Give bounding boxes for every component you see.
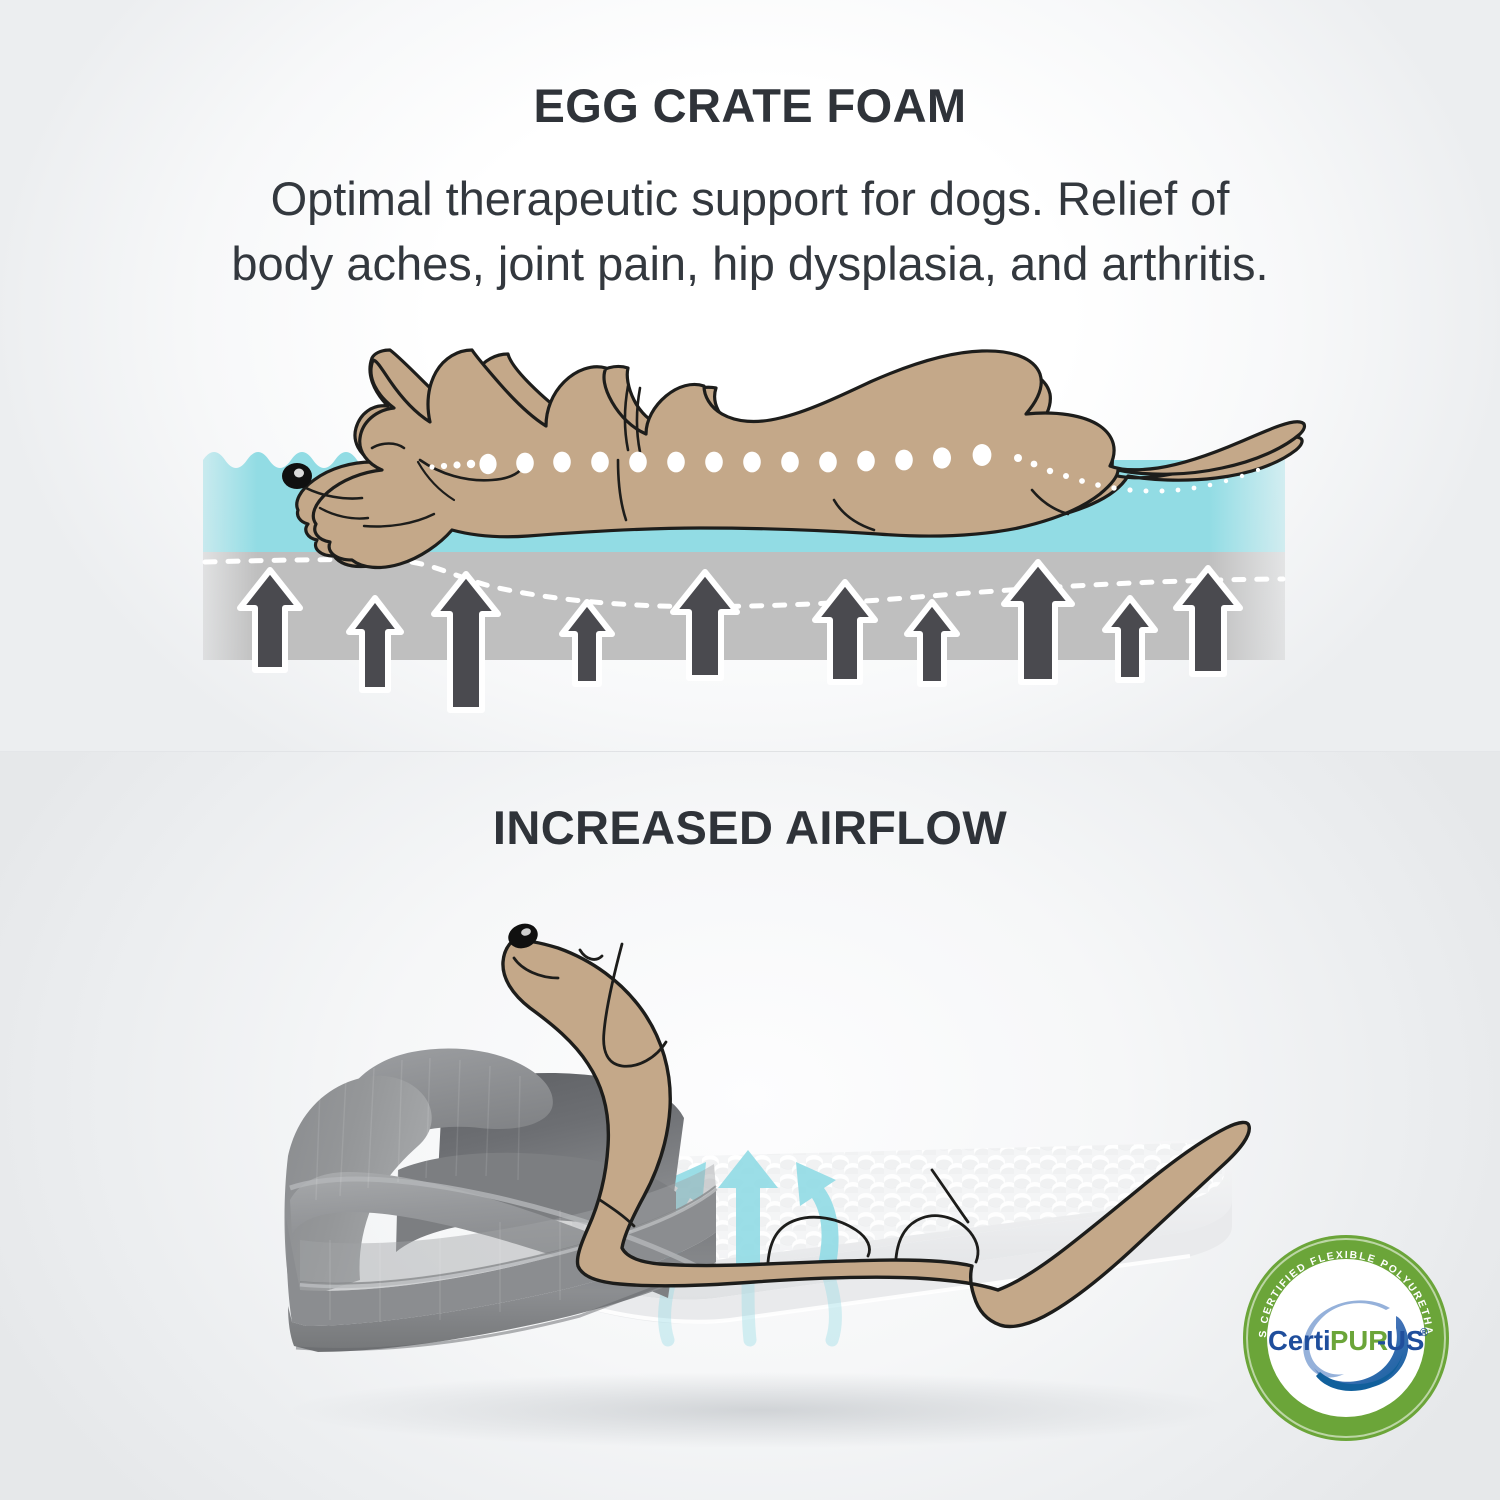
- bed-shadow: [290, 1372, 1230, 1448]
- panel-egg-crate-foam: EGG CRATE FOAM Optimal therapeutic suppo…: [0, 0, 1500, 752]
- page-title-increased-airflow: INCREASED AIRFLOW: [0, 800, 1500, 855]
- subtitle-line-1: Optimal therapeutic support for dogs. Re…: [50, 167, 1450, 232]
- illustration-dog-on-foam-cross-section: [0, 330, 1500, 730]
- infographic-page: EGG CRATE FOAM Optimal therapeutic suppo…: [0, 0, 1500, 1500]
- badge-wordmark: Certi PUR -US ®: [1268, 1325, 1428, 1356]
- badge-wordmark-us: -US: [1377, 1325, 1424, 1356]
- subtitle-text: Optimal therapeutic support for dogs. Re…: [50, 167, 1450, 297]
- page-title-egg-crate-foam: EGG CRATE FOAM: [0, 78, 1500, 133]
- badge-registered-mark: ®: [1420, 1327, 1428, 1339]
- certipur-us-badge: CONTAINS CERTIFIED FLEXIBLE POLYURETHANE…: [1240, 1232, 1452, 1444]
- subtitle-line-2: body aches, joint pain, hip dysplasia, a…: [50, 232, 1450, 297]
- badge-wordmark-certi: Certi: [1268, 1325, 1331, 1356]
